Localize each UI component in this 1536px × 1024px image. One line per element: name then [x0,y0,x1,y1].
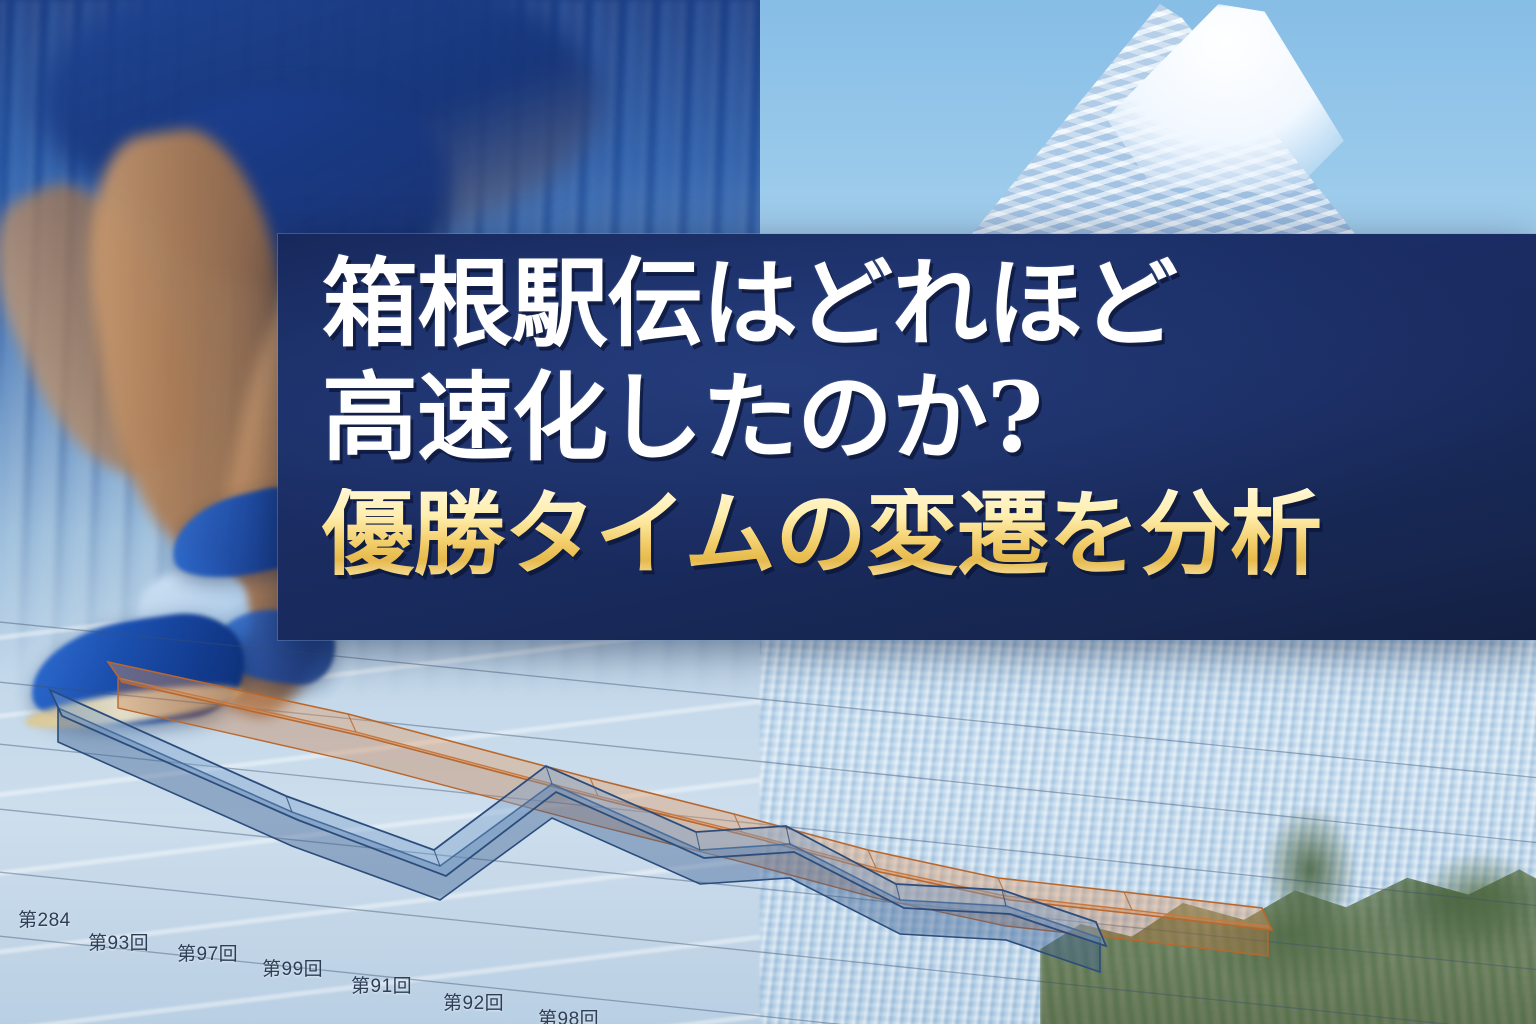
x-tick-label: 第284 [18,905,71,932]
x-tick-label: 第99回 [262,954,323,981]
x-tick-label: 第97回 [177,939,238,966]
x-tick-label: 第92回 [443,988,504,1015]
title-line-1: 箱根駅伝はどれほど [322,256,1536,352]
x-tick-label: 第93回 [88,928,149,955]
title-card-inner: 箱根駅伝はどれほど 高速化したのか? 優勝タイムの変遷を分析 [278,234,1536,580]
title-line-3: 優勝タイムの変遷を分析 [322,488,1536,580]
x-tick-label: 第98回 [538,1004,599,1024]
hero-image: 第284 第93回 第97回 第99回 第91回 第92回 第98回 第100回… [0,0,1536,1024]
x-tick-label: 第100回 [626,1020,698,1024]
chart-x-axis-labels: 第284 第93回 第97回 第99回 第91回 第92回 第98回 第100回 [0,600,1536,1024]
title-card: 箱根駅伝はどれほど 高速化したのか? 優勝タイムの変遷を分析 [278,234,1536,640]
x-tick-label: 第91回 [351,971,412,998]
title-line-2: 高速化したのか? [322,370,1536,466]
